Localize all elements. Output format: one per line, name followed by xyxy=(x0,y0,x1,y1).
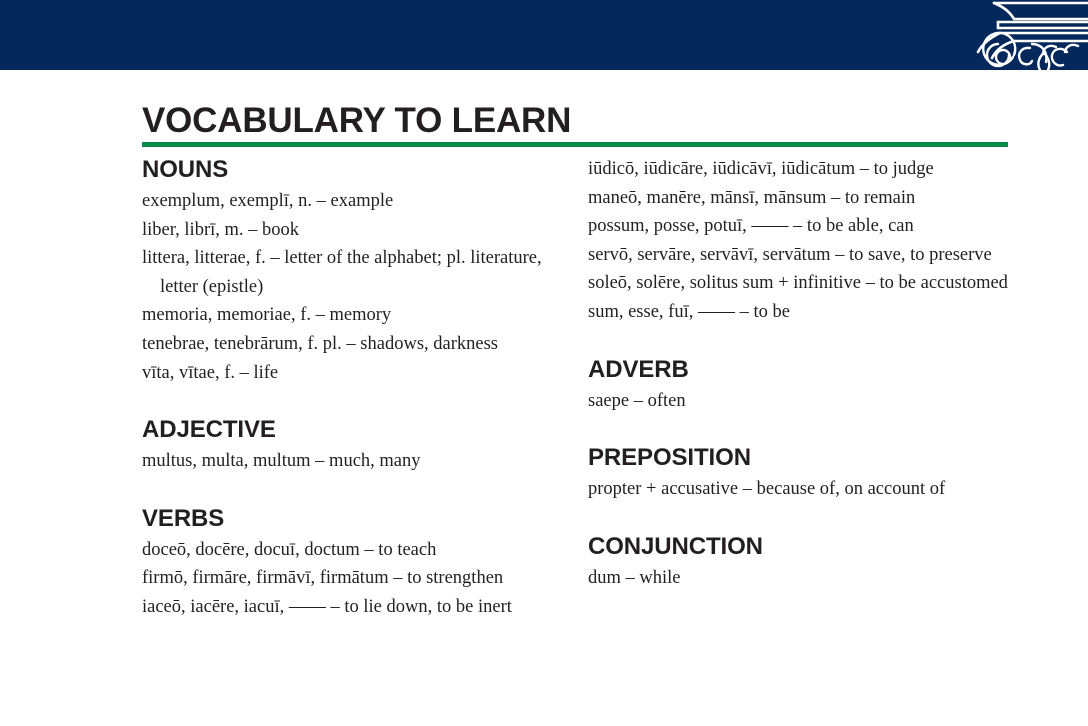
entry-list-adjective: multus, multa, multum – much, many xyxy=(142,447,562,476)
section-heading-preposition: PREPOSITION xyxy=(588,443,1013,473)
list-item: firmō, firmāre, firmāvī, firmātum – to s… xyxy=(142,564,562,593)
list-item: soleō, solēre, solitus sum + infinitive … xyxy=(588,269,1013,298)
title-underline-rule xyxy=(142,142,1008,147)
left-column: NOUNS exemplum, exemplī, n. – example li… xyxy=(142,155,562,622)
section-heading-adverb: ADVERB xyxy=(588,355,1013,385)
list-item: sum, esse, fuī, —— – to be xyxy=(588,298,1013,327)
section-heading-adjective: ADJECTIVE xyxy=(142,415,562,445)
list-item: propter + accusative – because of, on ac… xyxy=(588,475,1013,504)
list-item: liber, librī, m. – book xyxy=(142,216,562,245)
entry-list-preposition: propter + accusative – because of, on ac… xyxy=(588,475,1013,504)
list-item: possum, posse, potuī, —— – to be able, c… xyxy=(588,212,1013,241)
section-heading-verbs: VERBS xyxy=(142,504,562,534)
section-adjective: ADJECTIVE multus, multa, multum – much, … xyxy=(142,415,562,476)
section-verbs: VERBS doceō, docēre, docuī, doctum – to … xyxy=(142,504,562,622)
list-item: iūdicō, iūdicāre, iūdicāvī, iūdicātum – … xyxy=(588,155,1013,184)
list-item: servō, servāre, servāvī, servātum – to s… xyxy=(588,241,1013,270)
list-item: tenebrae, tenebrārum, f. pl. – shadows, … xyxy=(142,330,562,359)
list-item: multus, multa, multum – much, many xyxy=(142,447,562,476)
list-item: memoria, memoriae, f. – memory xyxy=(142,301,562,330)
section-conjunction: CONJUNCTION dum – while xyxy=(588,532,1013,593)
section-heading-conjunction: CONJUNCTION xyxy=(588,532,1013,562)
entry-list-nouns: exemplum, exemplī, n. – example liber, l… xyxy=(142,187,562,387)
list-item: iaceō, iacēre, iacuī, —— – to lie down, … xyxy=(142,593,562,622)
entry-list-conjunction: dum – while xyxy=(588,564,1013,593)
list-item: doceō, docēre, docuī, doctum – to teach xyxy=(142,536,562,565)
section-heading-nouns: NOUNS xyxy=(142,155,562,185)
entry-list-adverb: saepe – often xyxy=(588,387,1013,416)
list-item: exemplum, exemplī, n. – example xyxy=(142,187,562,216)
list-item: saepe – often xyxy=(588,387,1013,416)
page-content: VOCABULARY TO LEARN NOUNS exemplum, exem… xyxy=(0,70,1088,726)
right-column: iūdicō, iūdicāre, iūdicāvī, iūdicātum – … xyxy=(588,155,1013,592)
top-banner xyxy=(0,0,1088,70)
list-item: dum – while xyxy=(588,564,1013,593)
ionic-column-capital-icon xyxy=(970,0,1088,70)
list-item: littera, litterae, f. – letter of the al… xyxy=(142,244,562,301)
list-item: maneō, manēre, mānsī, mānsum – to remain xyxy=(588,184,1013,213)
list-item: vīta, vītae, f. – life xyxy=(142,359,562,388)
section-adverb: ADVERB saepe – often xyxy=(588,355,1013,416)
section-verbs-continued: iūdicō, iūdicāre, iūdicāvī, iūdicātum – … xyxy=(588,155,1013,327)
section-preposition: PREPOSITION propter + accusative – becau… xyxy=(588,443,1013,504)
entry-list-verbs-continued: iūdicō, iūdicāre, iūdicāvī, iūdicātum – … xyxy=(588,155,1013,327)
entry-list-verbs: doceō, docēre, docuī, doctum – to teach … xyxy=(142,536,562,622)
page-title: VOCABULARY TO LEARN xyxy=(142,101,571,141)
section-nouns: NOUNS exemplum, exemplī, n. – example li… xyxy=(142,155,562,387)
